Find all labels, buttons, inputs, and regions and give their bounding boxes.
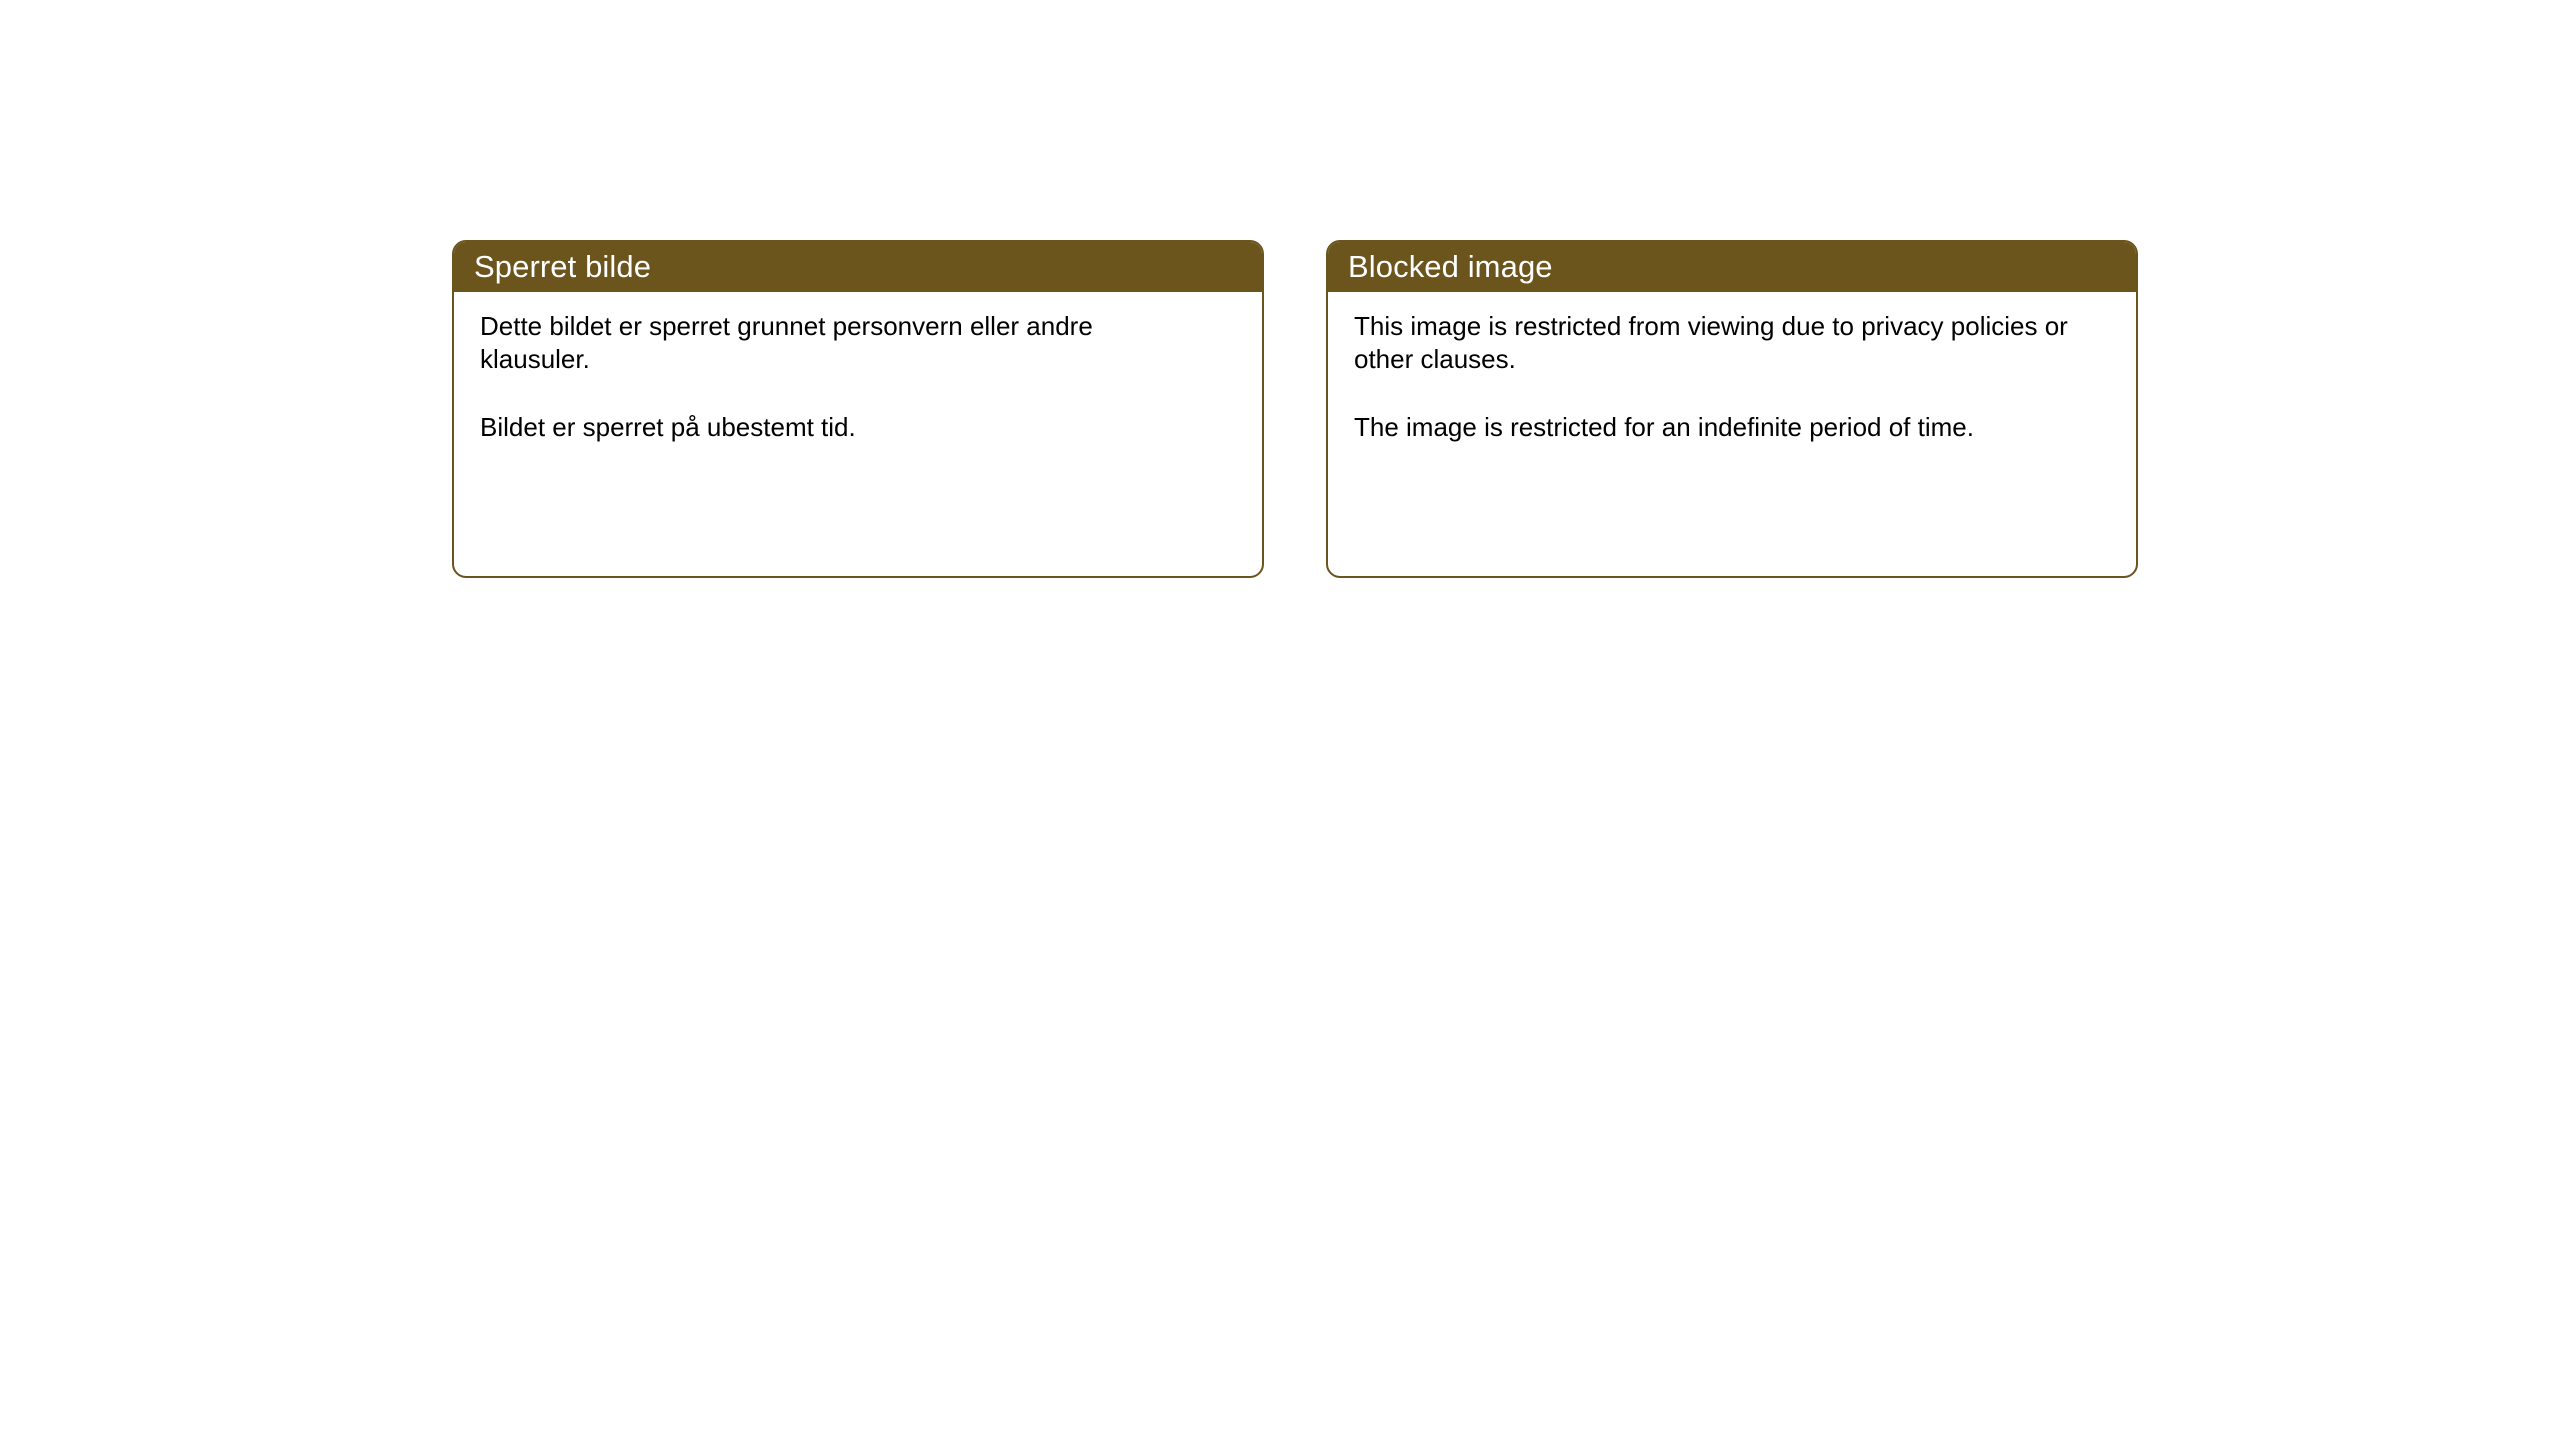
card-paragraph-reason-english: This image is restricted from viewing du… <box>1354 310 2074 377</box>
blocked-image-card-english: Blocked image This image is restricted f… <box>1326 240 2138 578</box>
card-title-norwegian: Sperret bilde <box>474 251 651 282</box>
blocked-image-notice-area: Sperret bilde Dette bildet er sperret gr… <box>0 0 2560 1440</box>
card-body-norwegian: Dette bildet er sperret grunnet personve… <box>454 292 1262 444</box>
card-paragraph-duration-english: The image is restricted for an indefinit… <box>1354 411 2074 444</box>
card-paragraph-reason-norwegian: Dette bildet er sperret grunnet personve… <box>480 310 1200 377</box>
card-header-english: Blocked image <box>1326 240 2138 292</box>
blocked-image-card-norwegian: Sperret bilde Dette bildet er sperret gr… <box>452 240 1264 578</box>
paragraph-spacer <box>1354 377 2110 411</box>
paragraph-spacer <box>480 377 1236 411</box>
card-header-norwegian: Sperret bilde <box>452 240 1264 292</box>
card-body-english: This image is restricted from viewing du… <box>1328 292 2136 444</box>
card-paragraph-duration-norwegian: Bildet er sperret på ubestemt tid. <box>480 411 1200 444</box>
card-title-english: Blocked image <box>1348 251 1553 282</box>
